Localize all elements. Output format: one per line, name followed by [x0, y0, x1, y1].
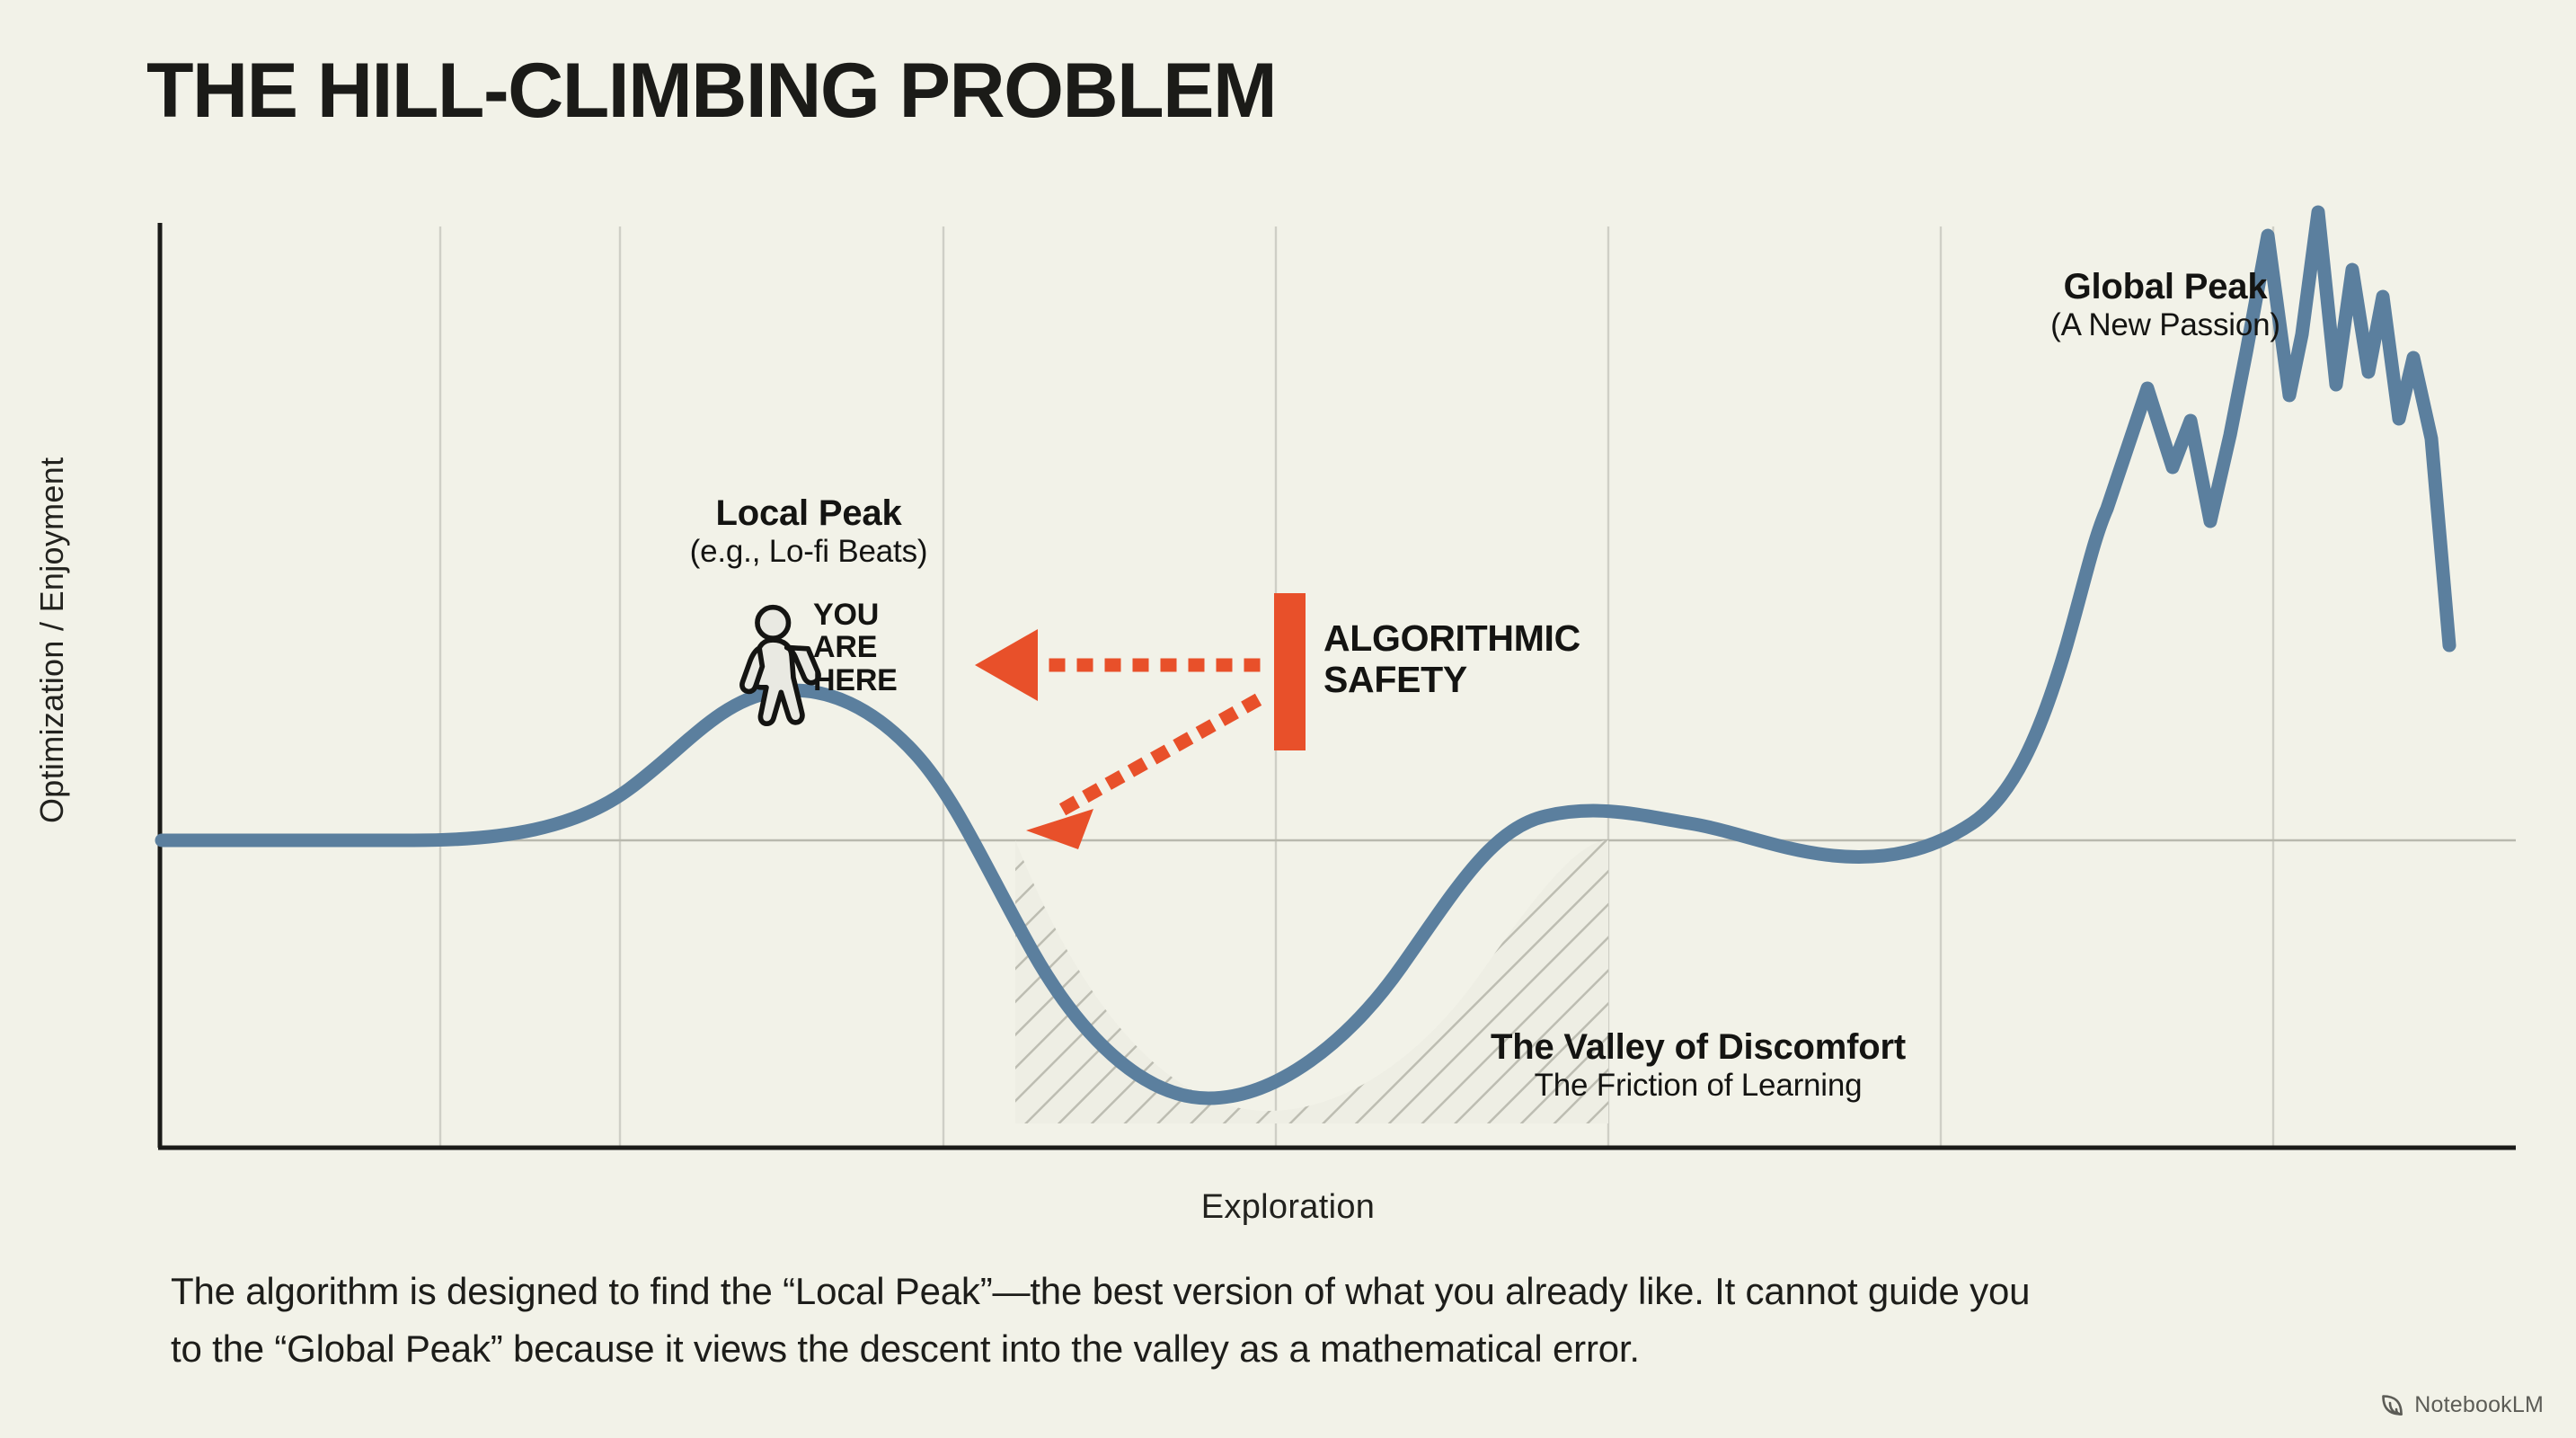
local-peak-subtext: (e.g., Lo-fi Beats) — [557, 534, 1060, 571]
infographic-canvas: THE HILL-CLIMBING PROBLEM — [0, 0, 2576, 1438]
valley-subtext: The Friction of Learning — [1249, 1068, 2147, 1105]
valley-heading: The Valley of Discomfort — [1249, 1026, 2147, 1068]
global-peak-heading: Global Peak — [1887, 266, 2444, 307]
annotation-you-are-here: YOU ARE HERE — [813, 599, 898, 697]
you-are-here-line-2: ARE — [813, 631, 898, 663]
caption-line-1: The algorithm is designed to find the “L… — [171, 1263, 2471, 1320]
you-are-here-line-1: YOU — [813, 599, 898, 631]
y-axis-label: Optimization / Enjoyment — [33, 554, 71, 823]
caption-line-2: to the “Global Peak” because it views th… — [171, 1320, 2471, 1378]
notebooklm-label: NotebookLM — [2414, 1394, 2544, 1416]
algorithmic-safety-bar — [1274, 593, 1306, 750]
notebooklm-watermark: NotebookLM — [2379, 1391, 2544, 1418]
algorithmic-safety-line-2: SAFETY — [1323, 660, 1580, 701]
annotation-algorithmic-safety: ALGORITHMIC SAFETY — [1323, 618, 1580, 701]
global-peak-subtext: (A New Passion) — [1887, 307, 2444, 344]
notebooklm-spiral-icon — [2379, 1391, 2406, 1418]
arrow-to-local-peak — [975, 629, 1253, 701]
annotation-valley-of-discomfort: The Valley of Discomfort The Friction of… — [1249, 1026, 2147, 1105]
x-axis-label: Exploration — [0, 1188, 2576, 1227]
local-peak-heading: Local Peak — [557, 493, 1060, 534]
algorithmic-safety-line-1: ALGORITHMIC — [1323, 618, 1580, 660]
arrow-to-valley — [1026, 703, 1253, 849]
annotation-global-peak: Global Peak (A New Passion) — [1887, 266, 2444, 344]
you-are-here-line-3: HERE — [813, 664, 898, 697]
walking-person-icon — [742, 608, 819, 724]
caption-text: The algorithm is designed to find the “L… — [171, 1263, 2471, 1378]
annotation-local-peak: Local Peak (e.g., Lo-fi Beats) — [557, 493, 1060, 571]
